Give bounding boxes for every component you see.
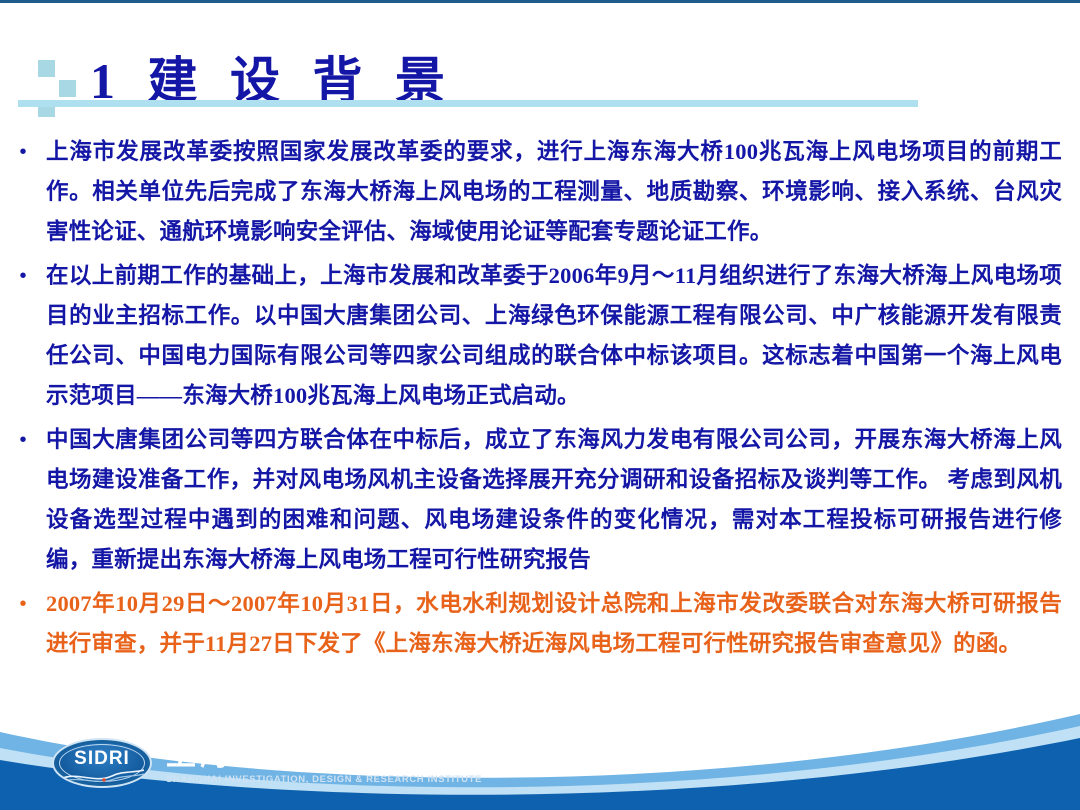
paragraph-1-text: 上海市发展改革委按照国家发展改革委的要求，进行上海东海大桥100兆瓦海上风电场项…	[46, 132, 1080, 252]
slide-body: • 上海市发展改革委按照国家发展改革委的要求，进行上海东海大桥100兆瓦海上风电…	[0, 132, 1080, 668]
bullet-glyph-icon: •	[0, 132, 46, 172]
paragraph-3-text: 中国大唐集团公司等四方联合体在中标后，成立了东海风力发电有限公司公司，开展东海大…	[46, 420, 1080, 580]
wave-swoosh-icon	[60, 768, 144, 784]
slide-footer: SIDRI 上海勘测设计研究院 SHANGHAI INVESTIGATION, …	[0, 690, 1080, 810]
sidri-badge-icon: SIDRI	[52, 738, 152, 788]
list-item: • 上海市发展改革委按照国家发展改革委的要求，进行上海东海大桥100兆瓦海上风电…	[0, 132, 1080, 252]
list-item: • 中国大唐集团公司等四方联合体在中标后，成立了东海风力发电有限公司公司，开展东…	[0, 420, 1080, 580]
deco-square-2	[59, 80, 76, 97]
paragraph-2-text: 在以上前期工作的基础上，上海市发展和改革委于2006年9月～11月组织进行了东海…	[46, 256, 1080, 416]
logo-name-en: SHANGHAI INVESTIGATION, DESIGN & RESEARC…	[166, 773, 482, 787]
bullet-glyph-icon: •	[0, 256, 46, 296]
sidri-mark-text: SIDRI	[74, 748, 130, 770]
logo-text-block: 上海勘测设计研究院 SHANGHAI INVESTIGATION, DESIGN…	[166, 739, 482, 787]
slide-canvas: 1 建 设 背 景 • 上海市发展改革委按照国家发展改革委的要求，进行上海东海大…	[0, 0, 1080, 810]
top-border-rule	[0, 0, 1080, 3]
deco-square-1	[38, 60, 55, 77]
logo-name-cn: 上海勘测设计研究院	[166, 739, 482, 773]
slide-title-block: 1 建 设 背 景	[0, 22, 1080, 100]
title-underline	[18, 100, 918, 107]
bullet-glyph-icon: •	[0, 584, 46, 624]
company-logo: SIDRI 上海勘测设计研究院 SHANGHAI INVESTIGATION, …	[52, 734, 482, 792]
list-item: • 2007年10月29日～2007年10月31日，水电水利规划设计总院和上海市…	[0, 584, 1080, 664]
list-item: • 在以上前期工作的基础上，上海市发展和改革委于2006年9月～11月组织进行了…	[0, 256, 1080, 416]
bullet-glyph-icon: •	[0, 420, 46, 460]
paragraph-4-text: 2007年10月29日～2007年10月31日，水电水利规划设计总院和上海市发改…	[46, 584, 1080, 664]
